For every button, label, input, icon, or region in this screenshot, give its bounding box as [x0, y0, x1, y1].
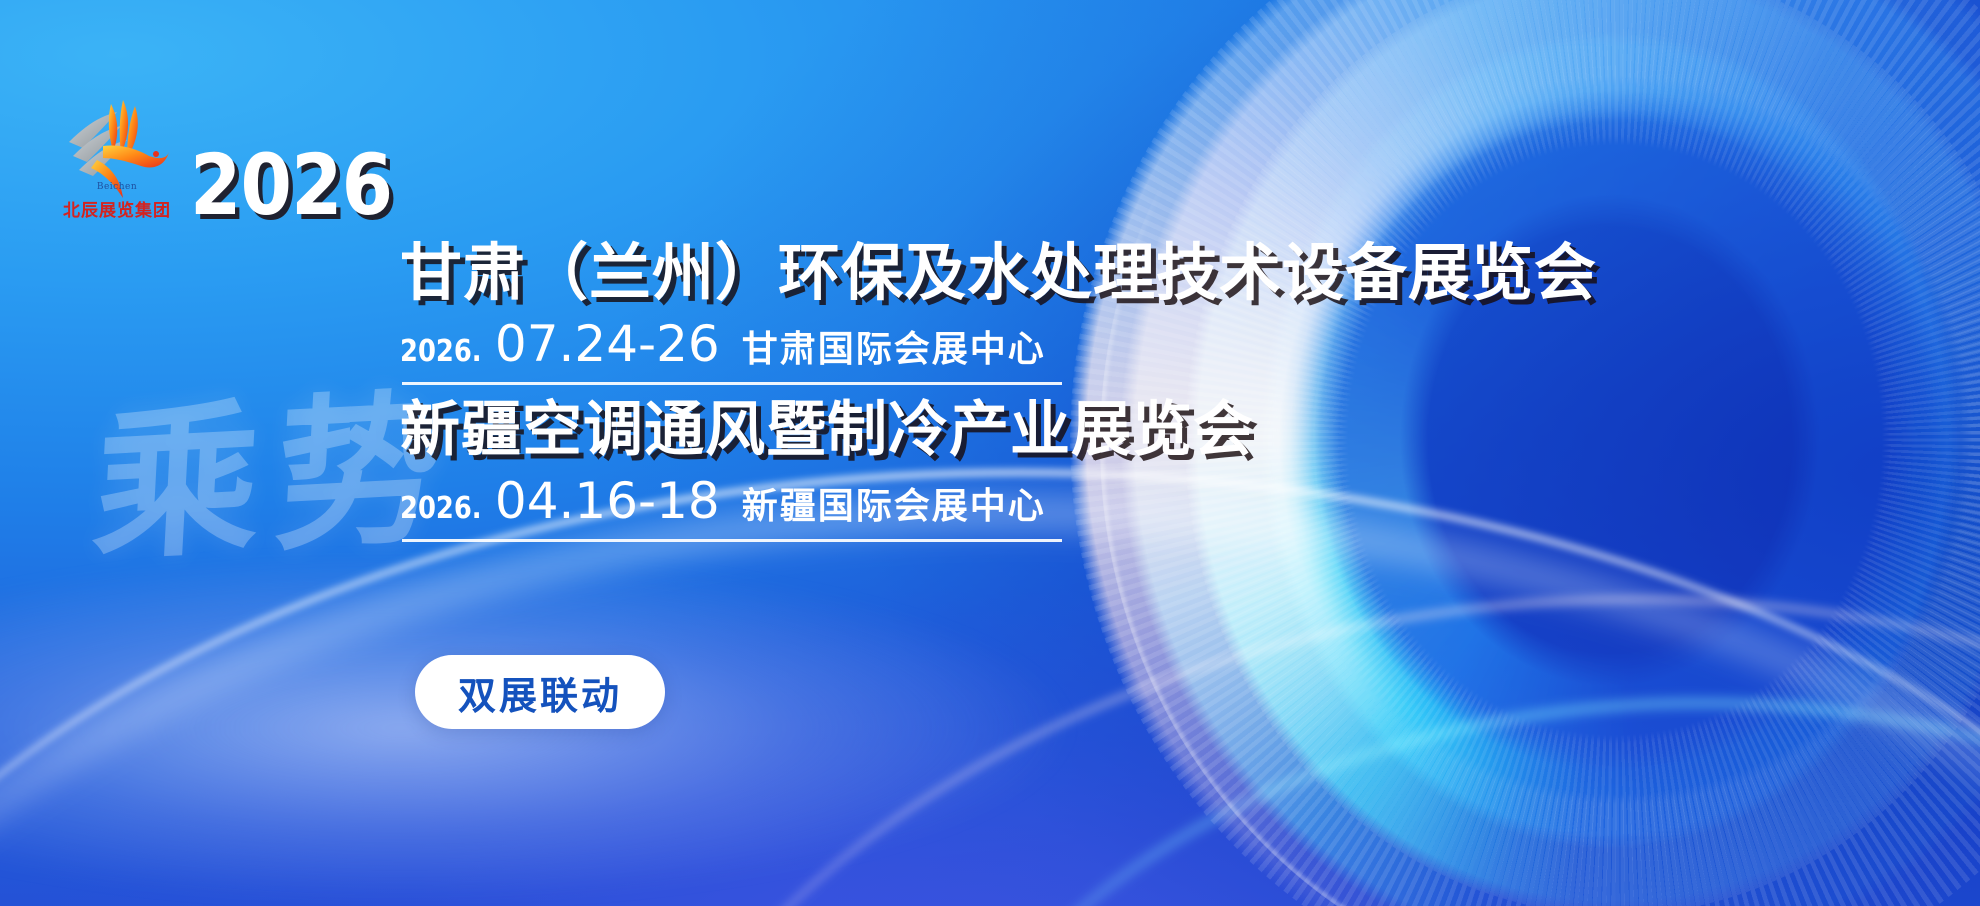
- event-date-year-1: 2026.: [400, 334, 482, 369]
- event-title-1: 甘肃（兰州）环保及水处理技术设备展览会: [400, 240, 1800, 305]
- dual-expo-badge-label: 双展联动: [458, 665, 622, 720]
- dual-expo-badge[interactable]: 双展联动: [415, 655, 665, 729]
- event-date-main-2: 04.16-18: [495, 472, 720, 530]
- logo-wordmark-en: Beichen: [57, 182, 177, 192]
- event-date-main-1: 07.24-26: [495, 315, 720, 373]
- event-date-year-2: 2026.: [400, 491, 482, 526]
- event-text-block: 甘肃（兰州）环保及水处理技术设备展览会 2026.07.24-26甘肃国际会展中…: [400, 240, 1800, 542]
- event-venue-1: 甘肃国际会展中心: [742, 329, 1046, 370]
- logo-wordmark-cn: 北辰展览集团: [57, 196, 177, 221]
- company-logo: Beichen 北辰展览集团: [57, 86, 177, 236]
- event-title-2: 新疆空调通风暨制冷产业展览会: [400, 399, 1800, 462]
- event-dateline-2: 2026.04.16-18新疆国际会展中心: [400, 472, 1800, 542]
- event-dateline-1: 2026.07.24-26甘肃国际会展中心: [400, 315, 1800, 385]
- year-heading: 2026: [190, 148, 392, 224]
- event-venue-2: 新疆国际会展中心: [742, 486, 1046, 527]
- exhibition-banner: 乘势 Beichen: [0, 0, 1980, 906]
